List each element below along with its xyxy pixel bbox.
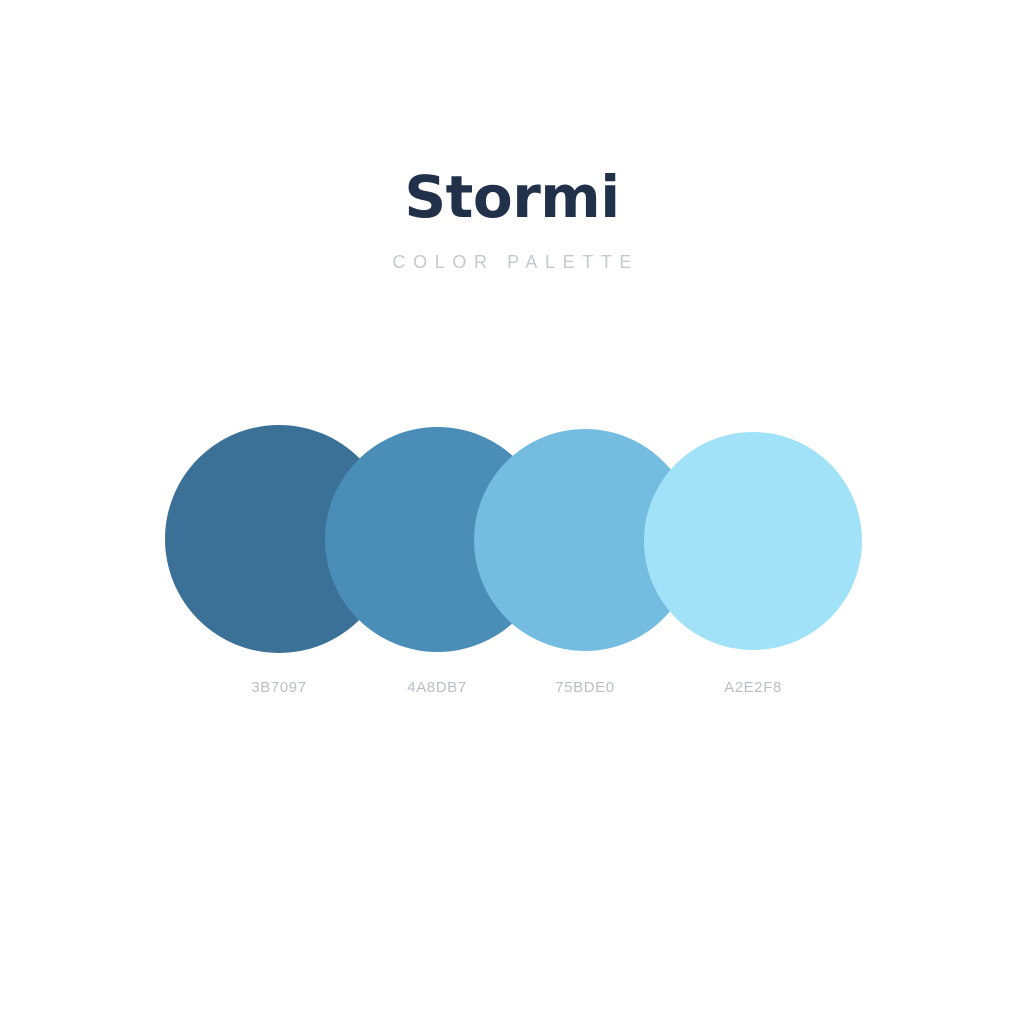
swatch-hex-label: 3B7097 [189,680,369,695]
color-palette-poster: Stormi COLOR PALETTE 3B7097 4A8DB7 75BDE… [0,0,1024,1024]
swatch-hex-label: 75BDE0 [495,680,675,695]
swatch-row: 3B7097 4A8DB7 75BDE0 A2E2F8 [0,0,1024,1024]
swatch-circle-icon[interactable] [644,432,862,650]
swatch-hex-label: A2E2F8 [663,680,843,695]
